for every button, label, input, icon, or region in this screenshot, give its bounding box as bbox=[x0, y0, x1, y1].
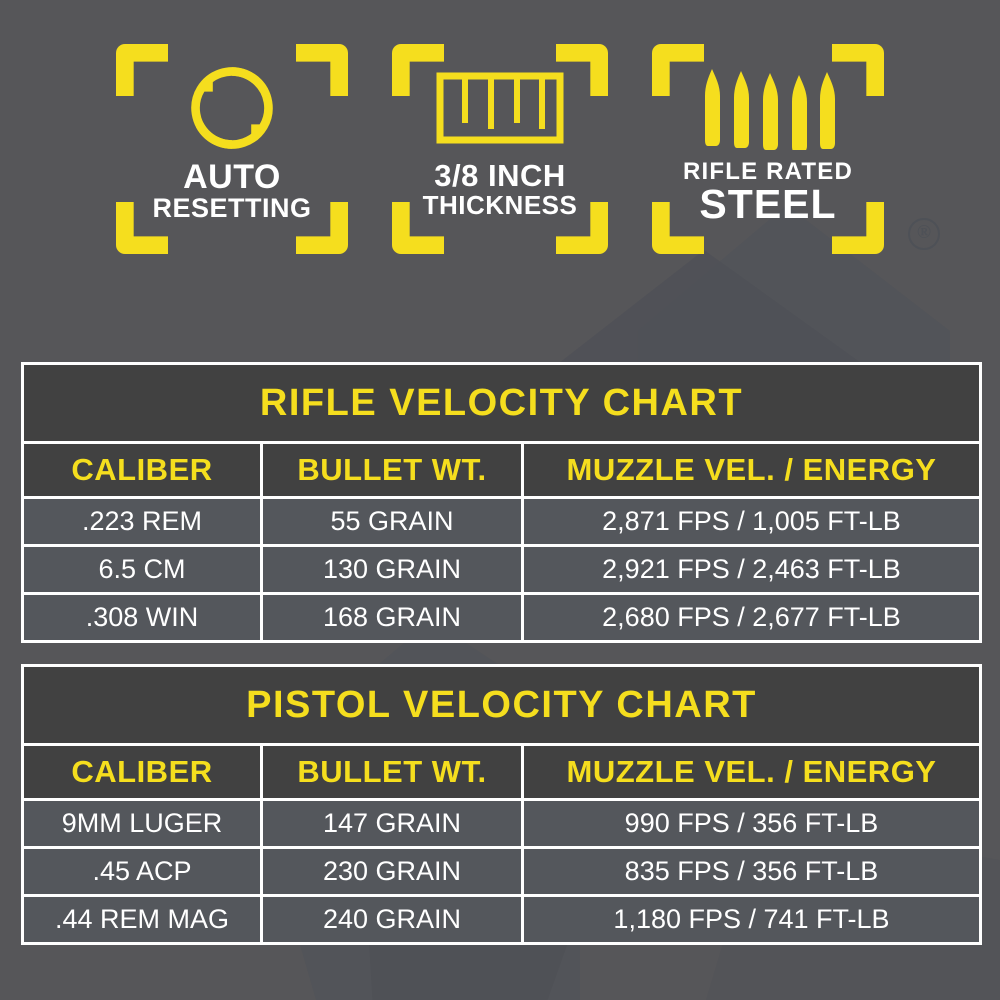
rifle-row1-muzzle-velocity-energy: 2,871 FPS / 1,005 FT-LB bbox=[524, 499, 979, 544]
rifle-velocity-chart: RIFLE VELOCITY CHART CALIBER BULLET WT. … bbox=[21, 362, 982, 643]
rifle-chart-title: RIFLE VELOCITY CHART bbox=[24, 365, 979, 444]
pistol-row3-caliber: .44 REM MAG bbox=[24, 897, 263, 942]
ruler-thickness-icon bbox=[436, 60, 564, 156]
badge-auto-resetting: AUTO RESETTING bbox=[116, 44, 348, 254]
rifle-header-bullet-weight: BULLET WT. bbox=[263, 444, 524, 496]
pistol-row1-muzzle-velocity-energy: 990 FPS / 356 FT-LB bbox=[524, 801, 979, 846]
pistol-row3-muzzle-velocity-energy: 1,180 FPS / 741 FT-LB bbox=[524, 897, 979, 942]
rifle-row3-muzzle-velocity-energy: 2,680 FPS / 2,677 FT-LB bbox=[524, 595, 979, 640]
corner-bracket-top-left-icon bbox=[116, 44, 168, 96]
badge-thickness-line2: THICKNESS bbox=[423, 192, 578, 219]
pistol-chart-header-row: CALIBER BULLET WT. MUZZLE VEL. / ENERGY bbox=[24, 746, 979, 801]
pistol-row2-muzzle-velocity-energy: 835 FPS / 356 FT-LB bbox=[524, 849, 979, 894]
pistol-row1-caliber: 9MM LUGER bbox=[24, 801, 263, 846]
rifle-row1-caliber: .223 REM bbox=[24, 499, 263, 544]
rifle-row3-bullet-weight: 168 GRAIN bbox=[263, 595, 524, 640]
pistol-row3-bullet-weight: 240 GRAIN bbox=[263, 897, 524, 942]
badge-auto-resetting-line1: AUTO bbox=[152, 160, 311, 195]
pistol-header-bullet-weight: BULLET WT. bbox=[263, 746, 524, 798]
badge-thickness-text: 3/8 INCH THICKNESS bbox=[423, 160, 578, 218]
badge-auto-resetting-line2: RESETTING bbox=[152, 195, 311, 223]
rifle-header-muzzle-velocity-energy: MUZZLE VEL. / ENERGY bbox=[524, 444, 979, 496]
five-bullets-icon bbox=[697, 60, 839, 156]
table-row: .308 WIN 168 GRAIN 2,680 FPS / 2,677 FT-… bbox=[24, 595, 979, 640]
table-row: .223 REM 55 GRAIN 2,871 FPS / 1,005 FT-L… bbox=[24, 499, 979, 547]
pistol-row2-caliber: .45 ACP bbox=[24, 849, 263, 894]
pistol-header-muzzle-velocity-energy: MUZZLE VEL. / ENERGY bbox=[524, 746, 979, 798]
rifle-row2-bullet-weight: 130 GRAIN bbox=[263, 547, 524, 592]
badge-rifle-rated-steel-line2: STEEL bbox=[683, 184, 853, 226]
badge-auto-resetting-text: AUTO RESETTING bbox=[152, 160, 311, 222]
pistol-row2-bullet-weight: 230 GRAIN bbox=[263, 849, 524, 894]
table-row: .44 REM MAG 240 GRAIN 1,180 FPS / 741 FT… bbox=[24, 897, 979, 942]
badge-rifle-rated-steel: RIFLE RATED STEEL bbox=[652, 44, 884, 254]
rifle-header-caliber: CALIBER bbox=[24, 444, 263, 496]
badge-thickness: 3/8 INCH THICKNESS bbox=[392, 44, 608, 254]
table-row: 9MM LUGER 147 GRAIN 990 FPS / 356 FT-LB bbox=[24, 801, 979, 849]
pistol-chart-title: PISTOL VELOCITY CHART bbox=[24, 667, 979, 746]
table-row: 6.5 CM 130 GRAIN 2,921 FPS / 2,463 FT-LB bbox=[24, 547, 979, 595]
badge-rifle-rated-steel-text: RIFLE RATED STEEL bbox=[683, 160, 853, 226]
rifle-row2-muzzle-velocity-energy: 2,921 FPS / 2,463 FT-LB bbox=[524, 547, 979, 592]
feature-badges: AUTO RESETTING 3/8 INCH THICKNESS bbox=[0, 44, 1000, 264]
auto-reset-circular-arrows-icon bbox=[184, 60, 280, 156]
badge-thickness-line1: 3/8 INCH bbox=[423, 160, 578, 192]
rifle-chart-header-row: CALIBER BULLET WT. MUZZLE VEL. / ENERGY bbox=[24, 444, 979, 499]
pistol-velocity-chart: PISTOL VELOCITY CHART CALIBER BULLET WT.… bbox=[21, 664, 982, 945]
corner-bracket-top-right-icon bbox=[832, 44, 884, 96]
pistol-header-caliber: CALIBER bbox=[24, 746, 263, 798]
corner-bracket-top-right-icon bbox=[296, 44, 348, 96]
rifle-row1-bullet-weight: 55 GRAIN bbox=[263, 499, 524, 544]
rifle-row3-caliber: .308 WIN bbox=[24, 595, 263, 640]
pistol-row1-bullet-weight: 147 GRAIN bbox=[263, 801, 524, 846]
rifle-row2-caliber: 6.5 CM bbox=[24, 547, 263, 592]
table-row: .45 ACP 230 GRAIN 835 FPS / 356 FT-LB bbox=[24, 849, 979, 897]
